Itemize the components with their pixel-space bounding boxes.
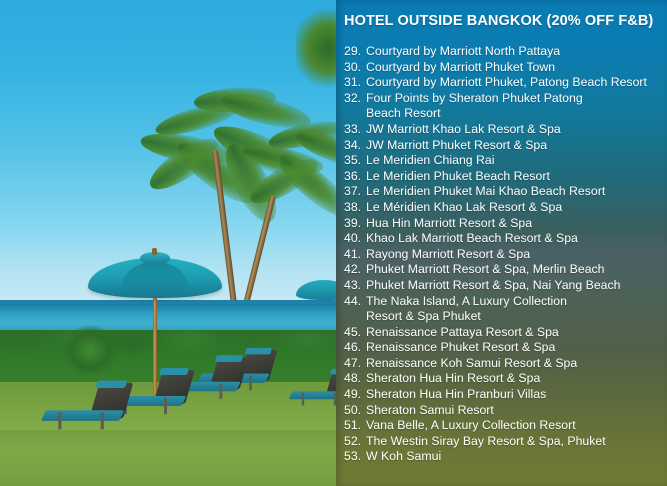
list-item[interactable]: 49.Sheraton Hua Hin Pranburi Villas xyxy=(336,387,667,403)
list-item-number: 30. xyxy=(336,60,366,76)
list-item-number: 52. xyxy=(336,434,366,450)
list-item-label: Le Meridien Phuket Mai Khao Beach Resort xyxy=(366,184,667,200)
list-item-label: Khao Lak Marriott Beach Resort & Spa xyxy=(366,231,667,247)
lawn-shadow xyxy=(0,430,336,476)
list-item-label: Sheraton Hua Hin Resort & Spa xyxy=(366,371,667,387)
list-item-label: The Naka Island, A Luxury Collection Res… xyxy=(366,294,667,325)
list-item-number: 50. xyxy=(336,403,366,419)
resort-photo xyxy=(0,0,336,486)
list-item-label: Le Méridien Khao Lak Resort & Spa xyxy=(366,200,667,216)
list-item-number: 46. xyxy=(336,340,366,356)
list-item-number: 35. xyxy=(336,153,366,169)
list-item[interactable]: 38.Le Méridien Khao Lak Resort & Spa xyxy=(336,200,667,216)
list-item[interactable]: 33.JW Marriott Khao Lak Resort & Spa xyxy=(336,122,667,138)
list-item[interactable]: 50.Sheraton Samui Resort xyxy=(336,403,667,419)
list-item-label: Courtyard by Marriott Phuket, Patong Bea… xyxy=(366,75,667,91)
lounge-chair xyxy=(43,383,134,430)
list-item[interactable]: 35.Le Meridien Chiang Rai xyxy=(336,153,667,169)
list-item-label: W Koh Samui xyxy=(366,449,667,465)
list-item[interactable]: 36.Le Meridien Phuket Beach Resort xyxy=(336,169,667,185)
list-item-number: 40. xyxy=(336,231,366,247)
list-item[interactable]: 46.Renaissance Phuket Resort & Spa xyxy=(336,340,667,356)
list-item-number: 42. xyxy=(336,262,366,278)
list-item-label: Hua Hin Marriott Resort & Spa xyxy=(366,216,667,232)
list-item[interactable]: 42.Phuket Marriott Resort & Spa, Merlin … xyxy=(336,262,667,278)
list-item[interactable]: 41.Rayong Marriott Resort & Spa xyxy=(336,247,667,263)
list-item[interactable]: 52.The Westin Siray Bay Resort & Spa, Ph… xyxy=(336,434,667,450)
list-item-label: Le Meridien Chiang Rai xyxy=(366,153,667,169)
list-item-label: JW Marriott Khao Lak Resort & Spa xyxy=(366,122,667,138)
umbrella-finial xyxy=(152,248,157,255)
poster-root: HOTEL OUTSIDE BANGKOK (20% OFF F&B) 29.C… xyxy=(0,0,667,486)
list-item-label: Vana Belle, A Luxury Collection Resort xyxy=(366,418,667,434)
list-item-label: Phuket Marriott Resort & Spa, Nai Yang B… xyxy=(366,278,667,294)
list-item-label: Phuket Marriott Resort & Spa, Merlin Bea… xyxy=(366,262,667,278)
list-item[interactable]: 40.Khao Lak Marriott Beach Resort & Spa xyxy=(336,231,667,247)
list-item-label: Sheraton Hua Hin Pranburi Villas xyxy=(366,387,667,403)
list-item[interactable]: 29.Courtyard by Marriott North Pattaya xyxy=(336,44,667,60)
list-item-label: Sheraton Samui Resort xyxy=(366,403,667,419)
list-item-label: Courtyard by Marriott North Pattaya xyxy=(366,44,667,60)
list-item[interactable]: 47.Renaissance Koh Samui Resort & Spa xyxy=(336,356,667,372)
list-item-number: 48. xyxy=(336,371,366,387)
list-item-number: 34. xyxy=(336,138,366,154)
list-item[interactable]: 31.Courtyard by Marriott Phuket, Patong … xyxy=(336,75,667,91)
list-item-label: Renaissance Koh Samui Resort & Spa xyxy=(366,356,667,372)
tall-bush xyxy=(62,322,118,374)
list-item-number: 47. xyxy=(336,356,366,372)
list-item[interactable]: 37.Le Meridien Phuket Mai Khao Beach Res… xyxy=(336,184,667,200)
list-item-number: 53. xyxy=(336,449,366,465)
list-item-number: 51. xyxy=(336,418,366,434)
list-item-label: Renaissance Phuket Resort & Spa xyxy=(366,340,667,356)
list-item[interactable]: 34.JW Marriott Phuket Resort & Spa xyxy=(336,138,667,154)
list-item-number: 31. xyxy=(336,75,366,91)
list-item-number: 36. xyxy=(336,169,366,185)
panel-title: HOTEL OUTSIDE BANGKOK (20% OFF F&B) xyxy=(344,12,662,30)
list-item-number: 49. xyxy=(336,387,366,403)
list-item[interactable]: 53.W Koh Samui xyxy=(336,449,667,465)
list-item-label: Rayong Marriott Resort & Spa xyxy=(366,247,667,263)
list-item[interactable]: 44.The Naka Island, A Luxury Collection … xyxy=(336,294,667,325)
list-item-label: The Westin Siray Bay Resort & Spa, Phuke… xyxy=(366,434,667,450)
list-item-label: Renaissance Pattaya Resort & Spa xyxy=(366,325,667,341)
list-item-number: 33. xyxy=(336,122,366,138)
list-item[interactable]: 48.Sheraton Hua Hin Resort & Spa xyxy=(336,371,667,387)
list-item-number: 32. xyxy=(336,91,366,107)
list-item[interactable]: 30.Courtyard by Marriott Phuket Town xyxy=(336,60,667,76)
list-item-label: Courtyard by Marriott Phuket Town xyxy=(366,60,667,76)
list-item[interactable]: 39.Hua Hin Marriott Resort & Spa xyxy=(336,216,667,232)
list-item-number: 29. xyxy=(336,44,366,60)
list-item[interactable]: 51.Vana Belle, A Luxury Collection Resor… xyxy=(336,418,667,434)
list-item-number: 45. xyxy=(336,325,366,341)
hotel-list-panel: HOTEL OUTSIDE BANGKOK (20% OFF F&B) 29.C… xyxy=(336,0,667,486)
list-item[interactable]: 32.Four Points by Sheraton Phuket Patong… xyxy=(336,91,667,122)
list-item-number: 43. xyxy=(336,278,366,294)
list-item-number: 38. xyxy=(336,200,366,216)
list-item-number: 44. xyxy=(336,294,366,310)
list-item-number: 37. xyxy=(336,184,366,200)
list-item-label: Le Meridien Phuket Beach Resort xyxy=(366,169,667,185)
list-item-number: 39. xyxy=(336,216,366,232)
list-item[interactable]: 45.Renaissance Pattaya Resort & Spa xyxy=(336,325,667,341)
palm-cluster-top-right xyxy=(296,0,336,120)
list-item-label: JW Marriott Phuket Resort & Spa xyxy=(366,138,667,154)
lounge-chair xyxy=(291,370,336,405)
list-item[interactable]: 43.Phuket Marriott Resort & Spa, Nai Yan… xyxy=(336,278,667,294)
list-item-label: Four Points by Sheraton Phuket Patong Be… xyxy=(366,91,667,122)
hotel-list: 29.Courtyard by Marriott North Pattaya30… xyxy=(336,44,667,465)
list-item-number: 41. xyxy=(336,247,366,263)
